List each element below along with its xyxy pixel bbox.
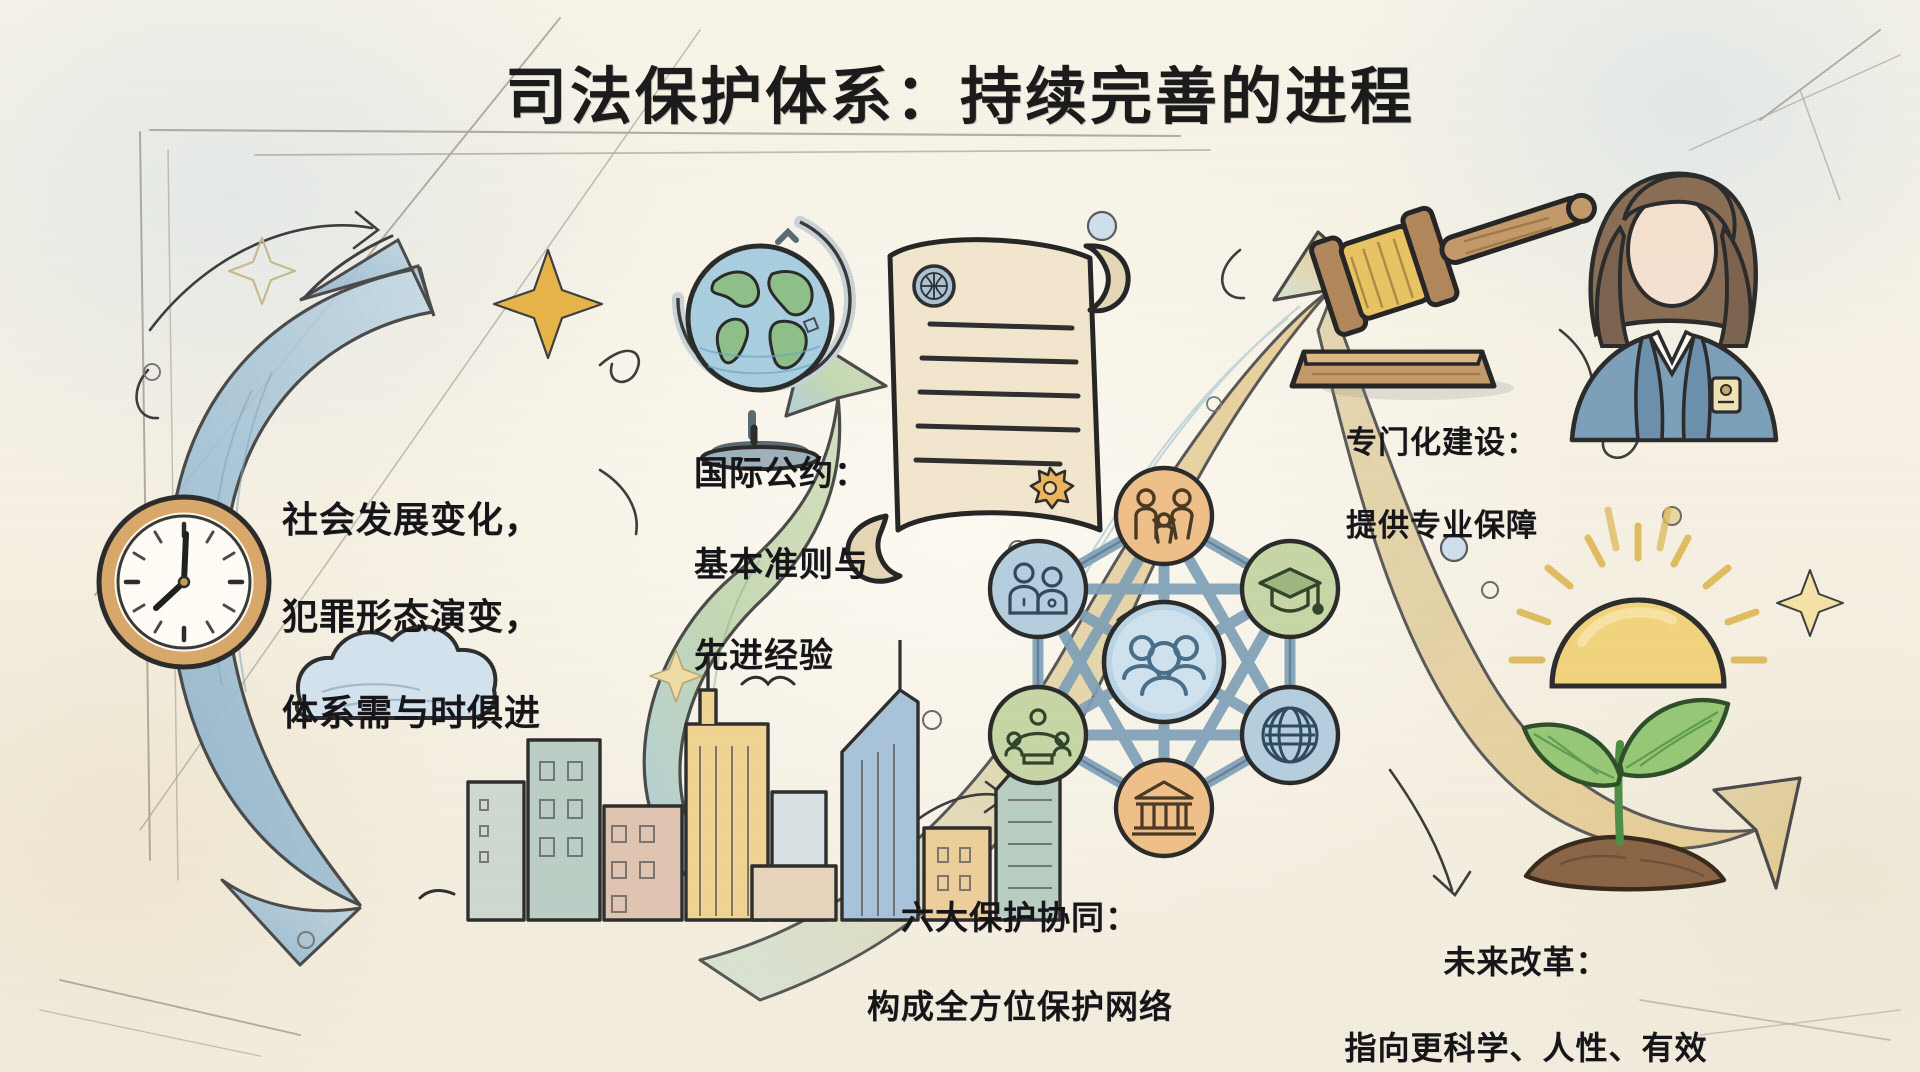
- caption-intl-line2: 基本准则与: [694, 543, 869, 589]
- caption-specialization: 专门化建设： 提供专业保障: [1346, 380, 1538, 588]
- sprout-icon: [1524, 700, 1728, 889]
- caption-six-protections: 六大保护协同： 构成全方位保护网络: [867, 852, 1173, 1072]
- caption-intl-line1: 国际公约：: [694, 452, 869, 498]
- caption-spec-line2: 提供专业保障: [1346, 505, 1538, 547]
- caption-six-line1: 六大保护协同：: [867, 896, 1173, 940]
- caption-intl-line3: 先进经验: [694, 634, 869, 680]
- caption-future-line1: 未来改革：: [1344, 941, 1707, 984]
- caption-future-reform: 未来改革： 指向更科学、人性、有效: [1344, 898, 1707, 1072]
- caption-spec-line1: 专门化建设：: [1346, 422, 1538, 464]
- infographic-canvas: 司法保护体系：持续完善的进程 社会发展变化， 犯罪形态演变， 体系需与时俱进 国…: [0, 0, 1920, 1072]
- caption-social-change-line3: 体系需与时俱进: [282, 689, 541, 737]
- page-title: 司法保护体系：持续完善的进程: [0, 46, 1920, 136]
- sun-icon: [1512, 510, 1764, 686]
- caption-social-change: 社会发展变化， 犯罪形态演变， 体系需与时俱进: [282, 448, 541, 786]
- caption-six-line2: 构成全方位保护网络: [867, 985, 1173, 1029]
- caption-social-change-line1: 社会发展变化，: [282, 496, 541, 544]
- caption-social-change-line2: 犯罪形态演变，: [282, 593, 541, 641]
- caption-future-line2: 指向更科学、人性、有效: [1344, 1027, 1707, 1070]
- caption-international-convention: 国际公约： 基本准则与 先进经验: [694, 406, 869, 725]
